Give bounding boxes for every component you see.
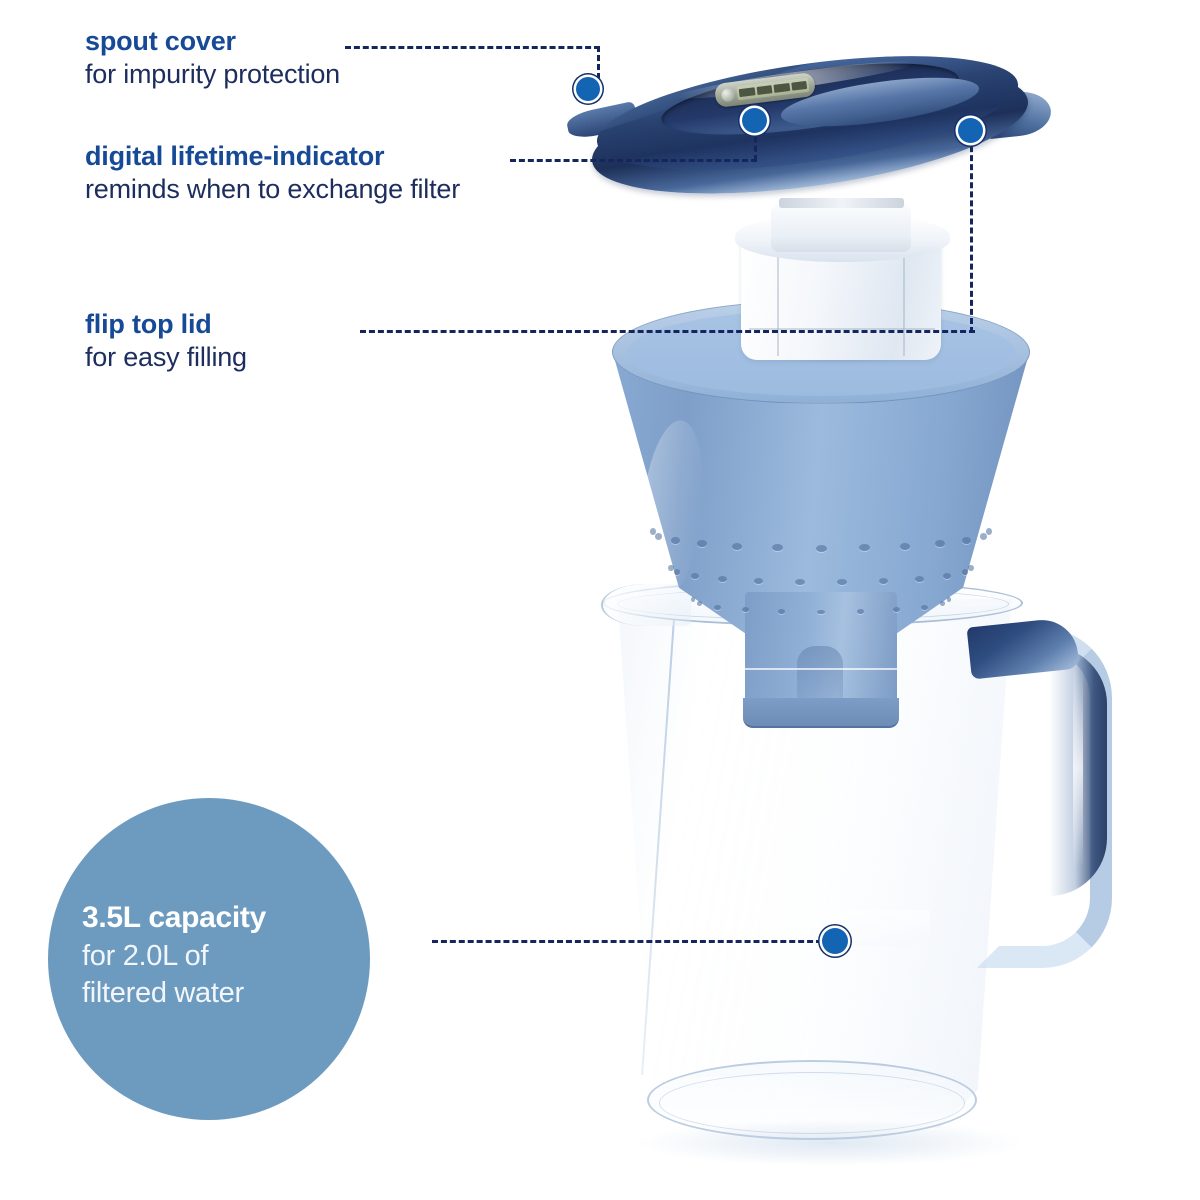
leader-line-capacity-horizontal xyxy=(432,940,822,943)
funnel-hole xyxy=(935,540,945,547)
funnel-hole xyxy=(947,597,951,602)
funnel-hole xyxy=(893,607,900,612)
indicator-bar-segment xyxy=(773,83,789,93)
funnel-band xyxy=(745,668,897,670)
funnel-hole xyxy=(714,605,721,610)
funnel-hole xyxy=(691,597,695,602)
capacity-line-1: for 2.0L of xyxy=(82,938,342,975)
funnel-hole xyxy=(921,605,928,610)
indicator-button[interactable] xyxy=(721,87,735,101)
funnel-hole xyxy=(718,576,727,582)
leader-line-spout-horizontal xyxy=(345,46,600,49)
product-diagram: spout cover for impurity protection digi… xyxy=(0,0,1200,1200)
callout-digital-lifetime-indicator: digital lifetime-indicator reminds when … xyxy=(85,142,460,206)
capacity-line-2: filtered water xyxy=(82,975,342,1012)
funnel-hole xyxy=(668,565,674,571)
funnel-hole xyxy=(671,537,680,544)
funnel-hole xyxy=(816,545,827,552)
callout-title: spout cover xyxy=(85,27,340,55)
leader-line-fliptop-horizontal xyxy=(360,330,975,333)
funnel-hole xyxy=(795,579,805,585)
funnel-hole xyxy=(962,537,971,544)
filter-funnel xyxy=(612,300,1030,740)
cartridge-brand-strip xyxy=(779,198,904,208)
handle-highlight xyxy=(1073,668,1083,868)
filter-cartridge xyxy=(735,196,950,364)
funnel-hole xyxy=(697,601,703,606)
cartridge-seam xyxy=(777,256,779,356)
funnel-hole xyxy=(968,565,974,571)
funnel-hole xyxy=(778,609,786,614)
callout-subtitle: for impurity protection xyxy=(85,59,340,91)
callout-subtitle: for easy filling xyxy=(85,342,247,374)
capacity-title: 3.5L capacity xyxy=(82,903,342,933)
funnel-hole xyxy=(940,601,946,606)
funnel-hole xyxy=(697,540,707,547)
leader-line-indicator-horizontal xyxy=(510,159,757,162)
jug-reflection xyxy=(640,1120,1020,1166)
funnel-hole xyxy=(943,573,951,579)
indicator-bar-segment xyxy=(756,85,772,95)
funnel-hole xyxy=(900,543,910,550)
callout-title: digital lifetime-indicator xyxy=(85,142,460,170)
callout-dot-capacity[interactable] xyxy=(822,928,848,954)
indicator-screen xyxy=(736,78,809,101)
callout-flip-top-lid: flip top lid for easy filling xyxy=(85,310,247,374)
callout-spout-cover: spout cover for impurity protection xyxy=(85,27,340,91)
indicator-bar-segment xyxy=(791,81,807,91)
callout-dot-flip-top-lid[interactable] xyxy=(958,118,983,143)
cartridge-seam xyxy=(903,256,905,356)
flip-top-lid xyxy=(565,48,1055,198)
callout-dot-spout-cover[interactable] xyxy=(576,77,600,101)
funnel-hole xyxy=(962,569,969,575)
indicator-bar-segment xyxy=(739,87,755,97)
callout-subtitle: reminds when to exchange filter xyxy=(85,174,460,206)
funnel-hole xyxy=(879,578,889,584)
funnel-hole xyxy=(691,573,699,579)
funnel-hole xyxy=(655,533,662,540)
capacity-badge-text: 3.5L capacity for 2.0L of filtered water xyxy=(82,903,342,1012)
callout-dot-digital-indicator[interactable] xyxy=(742,108,767,133)
funnel-hole xyxy=(915,576,924,582)
callout-title: flip top lid xyxy=(85,310,247,338)
funnel-hole xyxy=(986,528,992,535)
funnel-neck-base xyxy=(743,698,899,728)
leader-line-fliptop-vertical xyxy=(970,128,973,333)
funnel-hole xyxy=(732,543,742,550)
